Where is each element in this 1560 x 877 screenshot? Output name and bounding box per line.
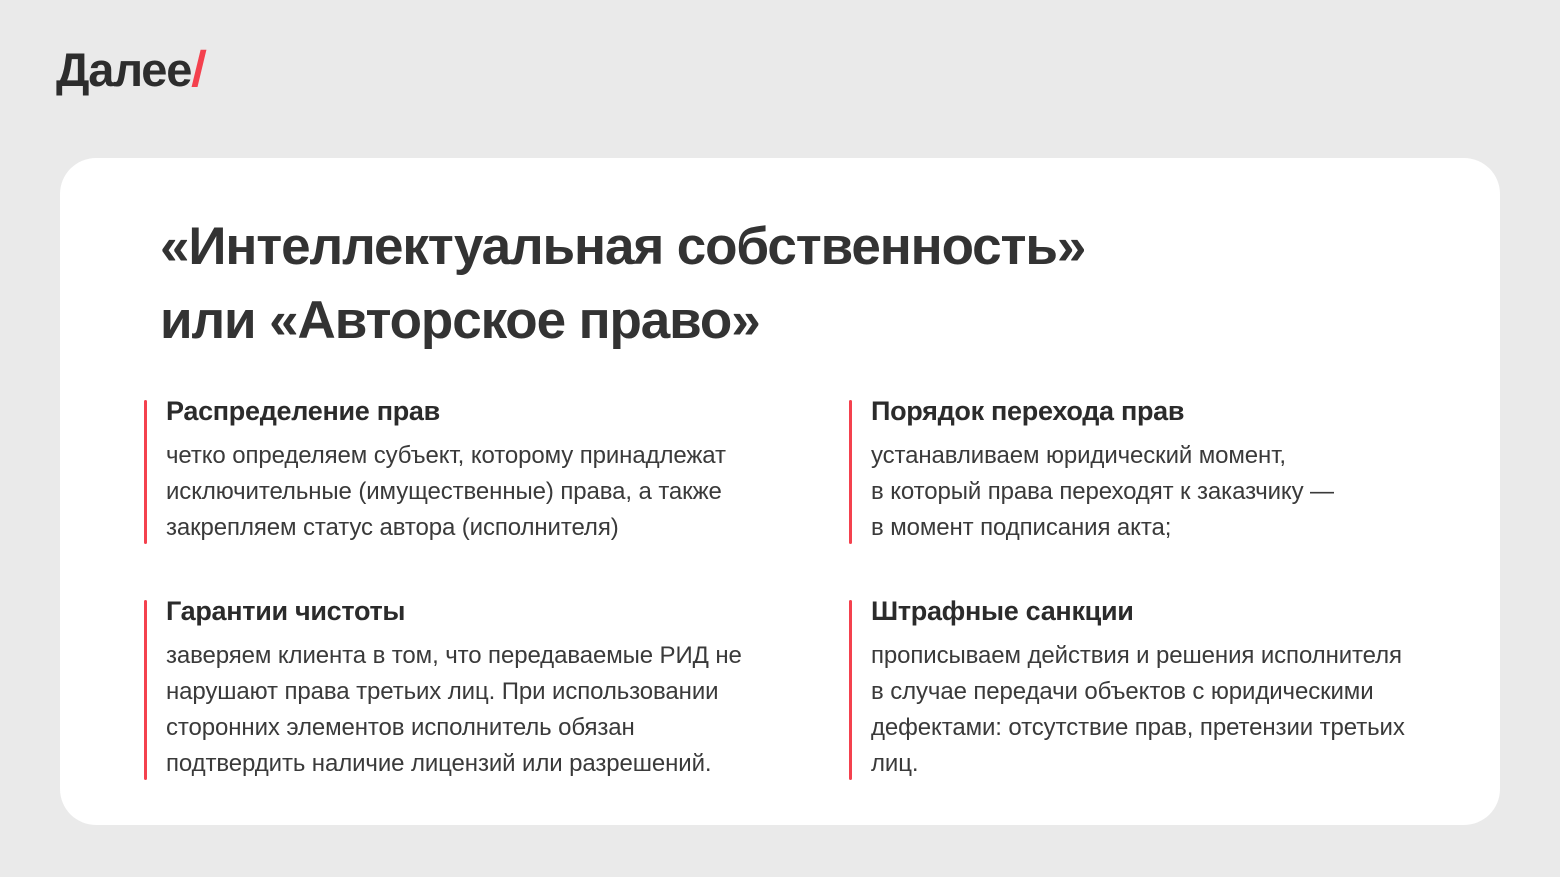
block-heading: Гарантии чистоты bbox=[166, 596, 849, 627]
accent-rule-icon bbox=[849, 400, 852, 544]
page-title: «Интеллектуальная собственность» или «Ав… bbox=[160, 210, 1440, 358]
brand-logo[interactable]: Далее / bbox=[56, 44, 206, 94]
blocks-grid: Распределение прав четко определяем субъ… bbox=[100, 396, 1440, 782]
block-body: устанавливаем юридический момент, в кото… bbox=[871, 438, 1440, 546]
brand-slash-icon: / bbox=[191, 44, 208, 94]
block-body: заверяем клиента в том, что передаваемые… bbox=[166, 638, 849, 782]
accent-rule-icon bbox=[144, 600, 147, 780]
accent-rule-icon bbox=[144, 400, 147, 544]
block-body: четко определяем субъект, которому прина… bbox=[166, 438, 849, 546]
block-shtrafnye-sankcii: Штрафные санкции прописываем действия и … bbox=[849, 596, 1440, 782]
block-heading: Порядок перехода прав bbox=[871, 396, 1440, 427]
block-body: прописываем действия и решения исполните… bbox=[871, 638, 1440, 782]
block-rasprepelenie-prav: Распределение прав четко определяем субъ… bbox=[144, 396, 849, 546]
content-card: «Интеллектуальная собственность» или «Ав… bbox=[60, 158, 1500, 825]
block-heading: Распределение прав bbox=[166, 396, 849, 427]
block-heading: Штрафные санкции bbox=[871, 596, 1440, 627]
block-garantii-chistoty: Гарантии чистоты заверяем клиента в том,… bbox=[144, 596, 849, 782]
accent-rule-icon bbox=[849, 600, 852, 780]
brand-logo-word: Далее bbox=[56, 46, 191, 93]
block-poryadok-perehoda-prav: Порядок перехода прав устанавливаем юрид… bbox=[849, 396, 1440, 546]
